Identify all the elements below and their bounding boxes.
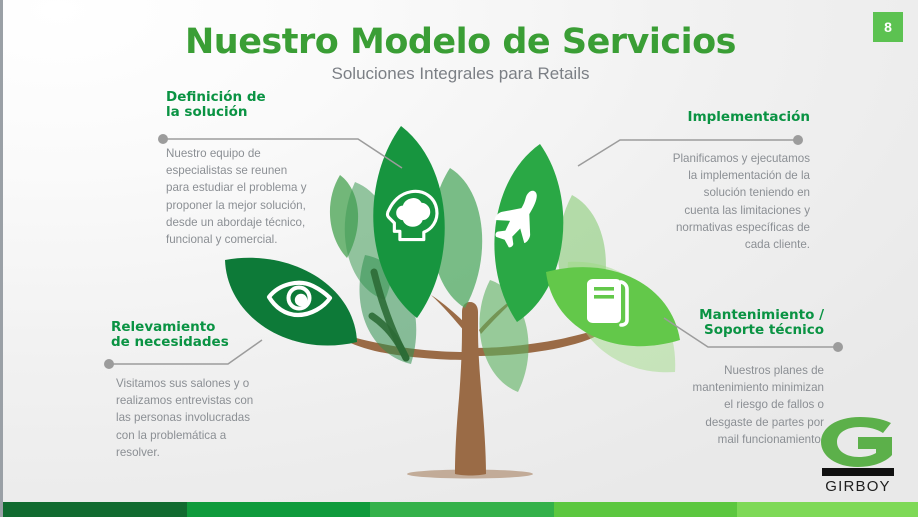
brand-logo: GIRBOY bbox=[818, 417, 898, 495]
footer-color-strip bbox=[3, 502, 918, 517]
strip-segment-3 bbox=[370, 502, 554, 517]
girboy-g-icon bbox=[818, 417, 898, 467]
page-title: Nuestro Modelo de Servicios bbox=[3, 22, 918, 62]
strip-segment-4 bbox=[554, 502, 738, 517]
callout-mantenimiento[interactable]: Mantenimiento / Soporte técnico Nuestros… bbox=[643, 308, 824, 448]
connector-dot-mantenimiento bbox=[833, 342, 843, 352]
callout-implementacion-heading: Implementación bbox=[603, 110, 810, 125]
callout-definicion[interactable]: Definición de la solución Nuestro equipo… bbox=[166, 90, 376, 248]
callout-definicion-body: Nuestro equipo de especialistas se reune… bbox=[166, 145, 376, 248]
logo-wordmark: GIRBOY bbox=[818, 478, 898, 495]
page-number: 8 bbox=[884, 19, 892, 35]
callout-relevamiento[interactable]: Relevamiento de necesidades Visitamos su… bbox=[111, 320, 331, 461]
slide-canvas: Nuestro Modelo de Servicios Soluciones I… bbox=[0, 0, 918, 517]
callout-relevamiento-heading: Relevamiento de necesidades bbox=[111, 320, 331, 350]
callout-mantenimiento-body: Nuestros planes de mantenimiento minimiz… bbox=[643, 362, 824, 448]
callout-implementacion-body: Planificamos y ejecutamos la implementac… bbox=[603, 150, 810, 253]
callout-implementacion[interactable]: Implementación Planificamos y ejecutamos… bbox=[603, 110, 810, 253]
page-number-badge: 8 bbox=[873, 12, 903, 42]
callout-mantenimiento-heading: Mantenimiento / Soporte técnico bbox=[643, 308, 824, 338]
strip-segment-1 bbox=[3, 502, 187, 517]
logo-bar bbox=[822, 468, 894, 476]
strip-segment-5 bbox=[737, 502, 918, 517]
page-subtitle: Soluciones Integrales para Retails bbox=[3, 64, 918, 84]
callout-definicion-heading: Definición de la solución bbox=[166, 90, 376, 120]
strip-segment-2 bbox=[187, 502, 371, 517]
callout-relevamiento-body: Visitamos sus salones y o realizamos ent… bbox=[111, 375, 331, 461]
